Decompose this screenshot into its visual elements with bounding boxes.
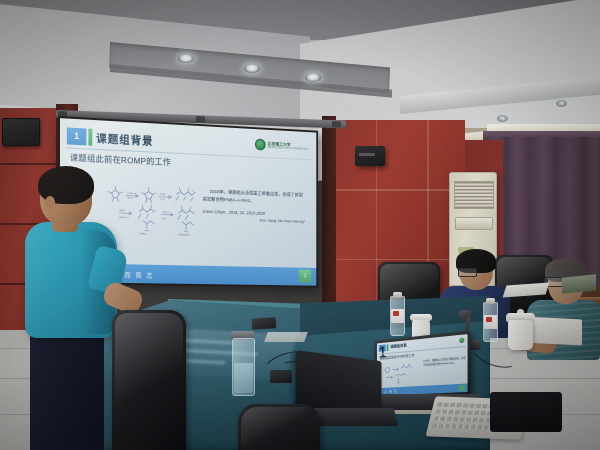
screen-frame-post-right [322,116,336,334]
slide-authors: Kun Jiang, Mo-Hua Hsiung* [203,216,305,224]
office-chair-foreground [112,310,186,450]
wall-speaker-right [355,146,385,166]
attendee-1-glasses-icon [458,268,477,277]
presenter-ear [45,196,55,209]
power-adapter [270,370,292,383]
svg-text:ROMP: ROMP [160,194,166,196]
svg-text:DMF, 60 °C: DMF, 60 °C [119,217,129,219]
wall-speaker-left [2,118,40,146]
ceiling-downlight-icon [305,73,321,82]
slide-subtitle: 课题组此前在ROMP的工作 [70,152,171,169]
ac-grille-icon [454,181,494,209]
ceiling-downlight-icon [556,100,567,107]
presenter-legs [30,326,104,450]
svg-text:rt, 2h: rt, 2h [160,198,164,201]
university-logo-icon [255,139,266,151]
svg-text:O: O [193,212,195,214]
svg-text:NH2-R: NH2-R [119,210,125,212]
svg-text:PNBA-A: PNBA-A [139,232,147,235]
conference-room-scene: 1 课题组背景 北京理工大学 BEIJING INSTITUTE OF TECH… [0,0,600,450]
office-chair-foreground [238,404,320,450]
ceiling-downlight-icon [178,54,194,63]
water-bottle [390,296,405,336]
slide-body-paragraph: 2018年，课题组从活性氯乙烯着出发，合成了新型高犯聚合物PNBA-A-NH2。 [203,188,305,206]
university-logo: 北京理工大学 BEIJING INSTITUTE OF TECHNOLOGY [255,139,308,153]
laptop-university-logo-icon [459,338,464,344]
slide-body: 2018年，课题组从活性氯乙烯着出发，合成了新型高犯聚合物PNBA-A-NH2。… [203,188,305,224]
svg-text:oxidation: oxidation [162,210,169,213]
slide-title: 课题组背景 [96,130,153,149]
romp-reaction-scheme: Grubbs cat. CH2Cl2 ROMP rt, 2h NH2-R DMF… [105,182,199,246]
laptop-slide-number: 1 [379,344,386,351]
paper-sheet [264,332,308,342]
glass-water-bottle [232,338,255,396]
laptop-slide-page-number [459,385,465,392]
svg-text:PNBA-A-NH2: PNBA-A-NH2 [179,233,190,236]
slide-accent-bar [88,129,92,146]
slide-page-number: 1 [299,270,311,283]
laptop-slide-accent [387,344,389,351]
svg-text:CH2Cl2: CH2Cl2 [127,198,134,200]
equipment-box [490,392,562,432]
ceiling-downlight-icon [244,64,260,73]
svg-text:H2O2: H2O2 [162,218,167,220]
laptop-slide-body: 2018年，课题组从活性氯乙烯着出发，合成了新型高犯聚合物PNBA-A-NH2。 [423,357,468,368]
svg-text:Grubbs cat.: Grubbs cat. [127,192,137,195]
svg-text:R: R [192,190,194,192]
svg-text:O: O [154,210,156,212]
slide-section-number: 1 [67,127,87,145]
phone[interactable] [252,317,277,330]
ceiling-downlight-icon [497,115,508,122]
laptop-slide-title: 课题组背景 [390,343,406,349]
ac-display-panel [455,217,493,230]
